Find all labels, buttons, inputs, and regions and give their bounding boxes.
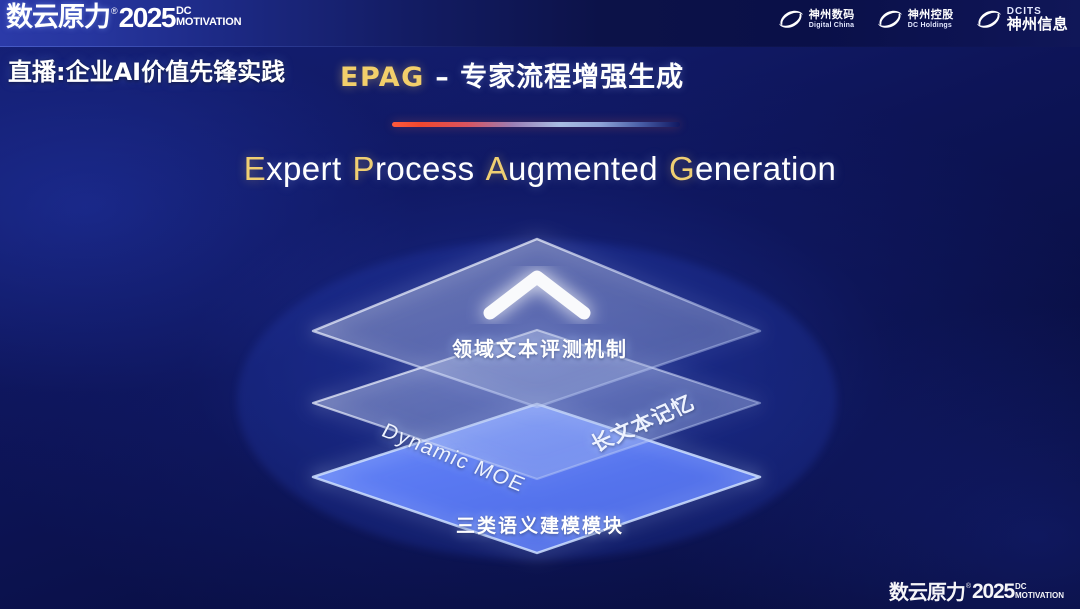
- logo-cn-dc-holdings: 神州控股: [908, 9, 954, 20]
- subtitle-rest-process: rocess: [375, 150, 475, 187]
- headline-chinese: 专家流程增强生成: [460, 62, 684, 93]
- brand-dc-label: DC: [176, 6, 241, 16]
- subtitle-word-expert: Expert: [244, 150, 342, 187]
- brand-year: 2025: [119, 3, 175, 33]
- live-title: 直播:企业AI价值先锋实践: [8, 52, 285, 87]
- subtitle-word-process: Process: [353, 150, 475, 187]
- watermark-year: 2025: [972, 581, 1014, 603]
- logo-cluster: 神州数码 Digital China 神州控股 DC Holdings: [778, 6, 1068, 32]
- subtitle-cap-p: P: [353, 150, 375, 187]
- logo-dc-holdings: 神州控股 DC Holdings: [877, 8, 954, 30]
- subtitle-cap-e: E: [244, 150, 266, 187]
- watermark-brand: 数云原力 ® 2025 DC MOTIVATION: [889, 581, 1064, 603]
- logo-en-digital-china: Digital China: [809, 22, 855, 29]
- stack-layer-top: [313, 239, 760, 407]
- logo-text-dc-holdings: 神州控股 DC Holdings: [908, 9, 954, 29]
- logo-cn-dcits: 神州信息: [1007, 17, 1068, 32]
- watermark-motivation-label: MOTIVATION: [1015, 591, 1064, 600]
- headline-separator: –: [425, 62, 460, 93]
- watermark-cn-name: 数云原力: [889, 581, 965, 603]
- watermark-registered-mark: ®: [966, 582, 971, 591]
- swirl-logo-icon: [976, 8, 1002, 30]
- logo-en-dc-holdings: DC Holdings: [908, 22, 954, 29]
- brand-registered-mark: ®: [111, 5, 118, 17]
- subtitle-cap-g: G: [669, 150, 695, 187]
- brand-motivation-label: MOTIVATION: [176, 16, 241, 28]
- chevron-up-icon: [490, 277, 584, 313]
- subtitle-rest-expert: xpert: [266, 150, 341, 187]
- slide-canvas: 数云原力 ® 2025 DC MOTIVATION 直播:企业AI价值先锋实践 …: [0, 0, 1080, 609]
- logo-text-dcits: DCITS 神州信息: [1007, 6, 1068, 32]
- brand-lockup: 数云原力 ® 2025 DC MOTIVATION: [6, 3, 241, 33]
- logo-cn-digital-china: 神州数码: [809, 9, 855, 20]
- logo-digital-china: 神州数码 Digital China: [778, 8, 855, 30]
- brand-dc-motivation: DC MOTIVATION: [176, 6, 241, 28]
- subtitle-rest-generation: eneration: [695, 150, 836, 187]
- logo-text-digital-china: 神州数码 Digital China: [809, 9, 855, 29]
- watermark-dc-motivation: DC MOTIVATION: [1015, 583, 1064, 600]
- swirl-logo-icon: [778, 8, 804, 30]
- brand-cn-name: 数云原力: [6, 3, 110, 33]
- subtitle-word-generation: Generation: [669, 150, 836, 187]
- watermark-dc-label: DC: [1015, 583, 1064, 591]
- layer-label-bottom: 三类语义建模模块: [0, 511, 1080, 538]
- logo-dcits: DCITS 神州信息: [976, 6, 1068, 32]
- subtitle-word-augmented: Augmented: [486, 150, 658, 187]
- layer-label-long-text-memory: 长文本记忆: [584, 387, 700, 458]
- subtitle-rest-augmented: ugmented: [508, 150, 658, 187]
- layer-label-dynamic-moe: Dynamic MOE: [377, 419, 529, 497]
- subtitle-expanded-acronym: ExpertProcessAugmentedGeneration: [0, 150, 1080, 188]
- layer-label-top: 领域文本评测机制: [0, 333, 1080, 362]
- page-title: EPAG – 专家流程增强生成: [340, 55, 684, 94]
- swirl-logo-icon: [877, 8, 903, 30]
- subtitle-cap-a: A: [486, 150, 508, 187]
- gradient-divider: [392, 122, 680, 127]
- headline-acronym: EPAG: [340, 62, 425, 93]
